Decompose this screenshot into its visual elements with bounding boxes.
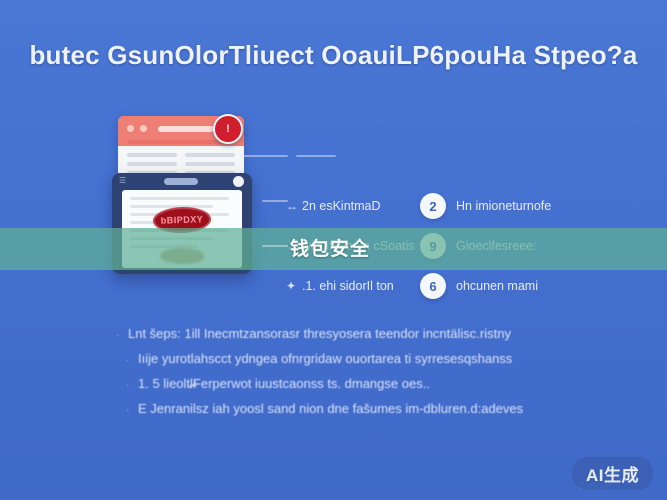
arrow-icon: ↔ <box>286 200 302 212</box>
bullet-dot-icon: · <box>126 381 138 391</box>
feature-row[interactable]: ↔ 2n esKintmaD 2 Hn imioneturnofe <box>286 186 646 226</box>
feature-left-label: 2n esKintmaD <box>302 199 420 213</box>
step-number-badge: 6 <box>420 273 446 299</box>
feature-left-label: .1. ehi sidorIl ton <box>302 279 420 293</box>
ai-generated-badge: AI生成 <box>572 457 653 490</box>
window-dot-icon <box>140 125 147 132</box>
address-bar-shape <box>158 126 214 132</box>
connector-line <box>262 245 288 247</box>
feature-right-label: Hn imioneturnofe <box>456 199 551 213</box>
list-item: · E Jenranilsz iah yoosl sand nion dne f… <box>116 401 586 416</box>
poster-canvas: butec GsunOlorTliuect OoauiLP6pouHa Stpe… <box>0 0 667 500</box>
feature-right-label: ohcunen mami <box>456 279 538 293</box>
list-item-label: E Jenranilsz iah yoosl sand nion dne faš… <box>138 401 523 416</box>
connector-line <box>296 155 336 157</box>
list-item-label: Iıije yurotlahscct ydngea ofnrgridaw ouo… <box>138 351 512 366</box>
connector-line <box>262 200 288 202</box>
window-dot-icon <box>127 125 134 132</box>
bullet-dot-icon: · <box>126 356 138 366</box>
alert-badge-icon: ! <box>213 114 243 144</box>
list-item-label: 1. 5 lieoltl̶̷Ferperwot iuustcaonss ts. … <box>138 376 430 391</box>
bullet-dot-icon: · <box>116 331 128 341</box>
list-item: · Lnt šeps: 1ill Inecmtzansorasr thresyo… <box>116 326 586 341</box>
feature-row[interactable]: ✦ .1. ehi sidorIl ton 6 ohcunen mami <box>286 266 646 306</box>
list-item: · 1. 5 lieoltl̶̷Ferperwot iuustcaonss ts… <box>116 376 586 391</box>
document-card-header: ☰ <box>112 173 252 190</box>
avatar <box>233 176 244 187</box>
text-line-row <box>127 153 235 157</box>
tab-shape <box>164 178 198 185</box>
bullet-dot-icon: · <box>126 406 138 416</box>
step-number-badge: 2 <box>420 193 446 219</box>
page-title: butec GsunOlorTliuect OoauiLP6pouHa Stpe… <box>0 40 667 71</box>
arrow-icon: ✦ <box>286 280 302 292</box>
bullet-list: · Lnt šeps: 1ill Inecmtzansorasr thresyo… <box>116 326 586 426</box>
watermark: AI生成 <box>572 458 653 488</box>
browser-card-body <box>118 146 244 175</box>
menu-icon: ☰ <box>119 177 127 185</box>
list-item: · Iıije yurotlahscct ydngea ofnrgridaw o… <box>116 351 586 366</box>
list-item-label: Lnt šeps: 1ill Inecmtzansorasr thresyose… <box>128 326 511 341</box>
connector-line <box>240 155 288 157</box>
band-label: 钱包安全 <box>290 234 370 261</box>
text-line-row <box>127 162 235 166</box>
header-underline-shape <box>128 140 228 144</box>
